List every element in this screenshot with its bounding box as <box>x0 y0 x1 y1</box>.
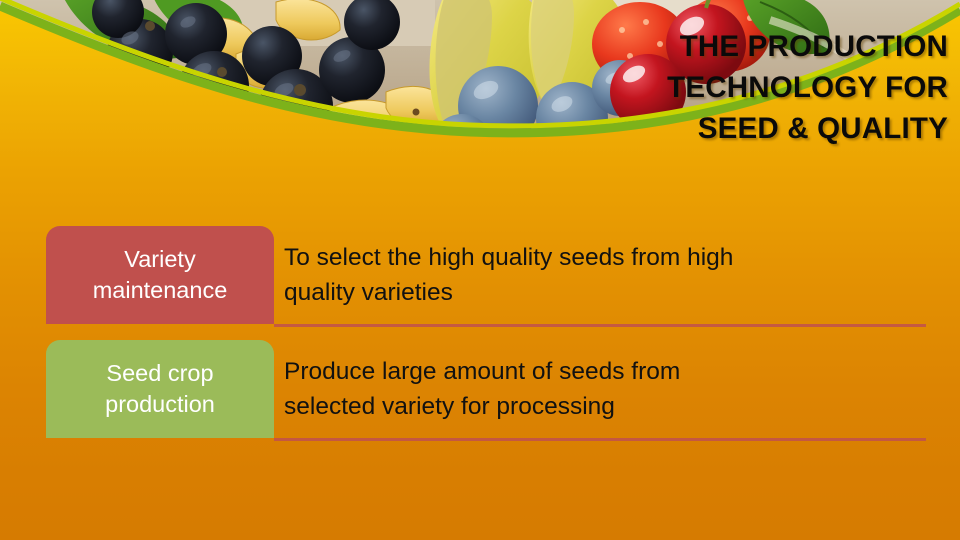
description-line-1: To select the high quality seeds from hi… <box>284 240 926 275</box>
title-line-3: SEED & QUALITY <box>428 108 948 149</box>
label-line-1: Variety <box>124 244 195 275</box>
label-box-variety-maintenance: Variety maintenance <box>46 226 274 324</box>
description-line-2: selected variety for processing <box>284 389 926 424</box>
content-row-seed-crop-production: Seed crop production Produce large amoun… <box>46 340 926 444</box>
presentation-slide: THE PRODUCTION TECHNOLOGY FOR SEED & QUA… <box>0 0 960 540</box>
label-line-2: maintenance <box>93 275 228 306</box>
description-line-1: Produce large amount of seeds from <box>284 354 926 389</box>
page-title: THE PRODUCTION TECHNOLOGY FOR SEED & QUA… <box>428 26 948 149</box>
label-line-1: Seed crop <box>106 358 213 389</box>
title-line-2: TECHNOLOGY FOR <box>428 67 948 108</box>
label-line-2: production <box>105 389 215 420</box>
label-box-seed-crop-production: Seed crop production <box>46 340 274 438</box>
description-line-2: quality varieties <box>284 275 926 310</box>
row-divider-rule <box>274 324 926 327</box>
description-variety-maintenance: To select the high quality seeds from hi… <box>274 226 926 324</box>
title-line-1: THE PRODUCTION <box>428 26 948 67</box>
description-seed-crop-production: Produce large amount of seeds from selec… <box>274 340 926 438</box>
row-divider-rule <box>274 438 926 441</box>
content-row-variety-maintenance: Variety maintenance To select the high q… <box>46 226 926 330</box>
